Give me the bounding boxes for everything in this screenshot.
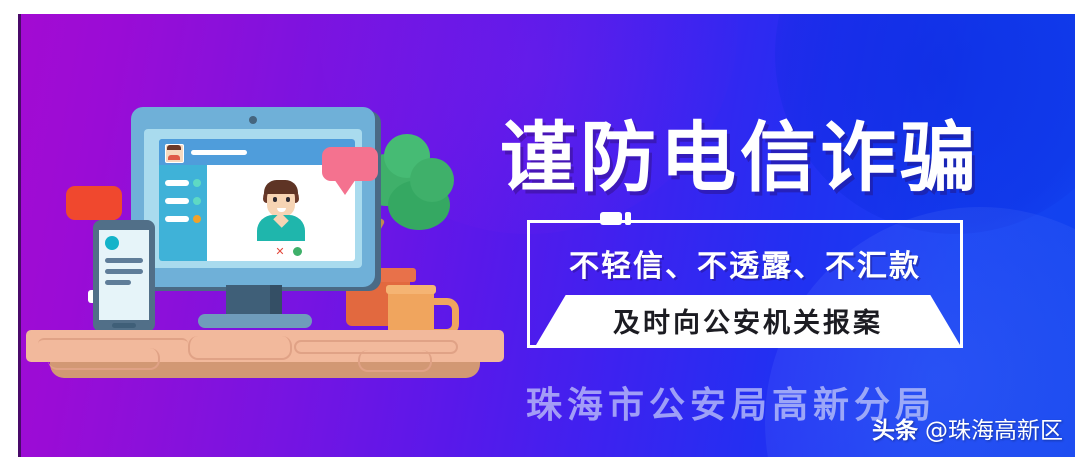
caller-eye-right	[286, 197, 290, 202]
avatar-shirt	[168, 155, 180, 160]
watermark: 头条 @珠海高新区	[872, 411, 1063, 445]
sidebar-item-label-placeholder	[165, 198, 189, 204]
smartphone-text-line	[105, 269, 143, 274]
pink-bubble-tail	[334, 179, 356, 195]
avatar	[165, 144, 184, 163]
sidebar-item	[165, 213, 203, 225]
sidebar-item	[165, 177, 203, 189]
smartphone-home-bar	[112, 323, 136, 328]
monitor-stand-base	[198, 314, 312, 328]
mug-rim	[386, 285, 436, 294]
watermark-source: 头条	[872, 411, 918, 445]
app-title-placeholder	[191, 150, 247, 155]
sidebar-item-label-placeholder	[165, 216, 189, 222]
smartphone-avatar	[105, 236, 119, 250]
sidebar-item-label-placeholder	[165, 180, 189, 186]
status-dot	[193, 197, 201, 205]
promise-ribbon: 及时向公安机关报案	[536, 295, 960, 345]
desk-grain-line	[358, 350, 432, 372]
reject-call-icon[interactable]: ✕	[275, 247, 285, 257]
promise-line-primary: 不轻信、不透露、不汇款	[530, 241, 960, 285]
webcam-icon	[249, 116, 257, 124]
avatar-hair	[167, 145, 181, 150]
video-call-illustration: ✕	[58, 92, 478, 382]
pink-video-bubble	[322, 147, 378, 181]
left-edge-accent	[18, 14, 21, 457]
sidebar-item	[165, 195, 203, 207]
promise-line-secondary: 及时向公安机关报案	[613, 301, 883, 340]
status-dot	[193, 215, 201, 223]
smartphone-text-line	[105, 280, 131, 285]
caller-hair-top	[264, 180, 298, 194]
status-dot	[193, 179, 201, 187]
desk-grain-line	[188, 336, 292, 360]
watermark-handle: @珠海高新区	[925, 411, 1063, 445]
monitor-stand-neck-shade	[270, 285, 282, 317]
anti-fraud-banner: ✕	[18, 14, 1075, 457]
desk-grain-line	[48, 348, 160, 370]
plant-leaf	[410, 158, 454, 202]
promise-callout-box: 不轻信、不透露、不汇款 及时向公安机关报案	[527, 220, 963, 348]
caller-eye-left	[273, 197, 277, 202]
red-video-bubble	[66, 186, 122, 220]
accept-call-icon[interactable]	[293, 247, 302, 256]
page-title: 谨防电信诈骗	[500, 96, 1040, 206]
smartphone-text-line	[105, 258, 143, 263]
